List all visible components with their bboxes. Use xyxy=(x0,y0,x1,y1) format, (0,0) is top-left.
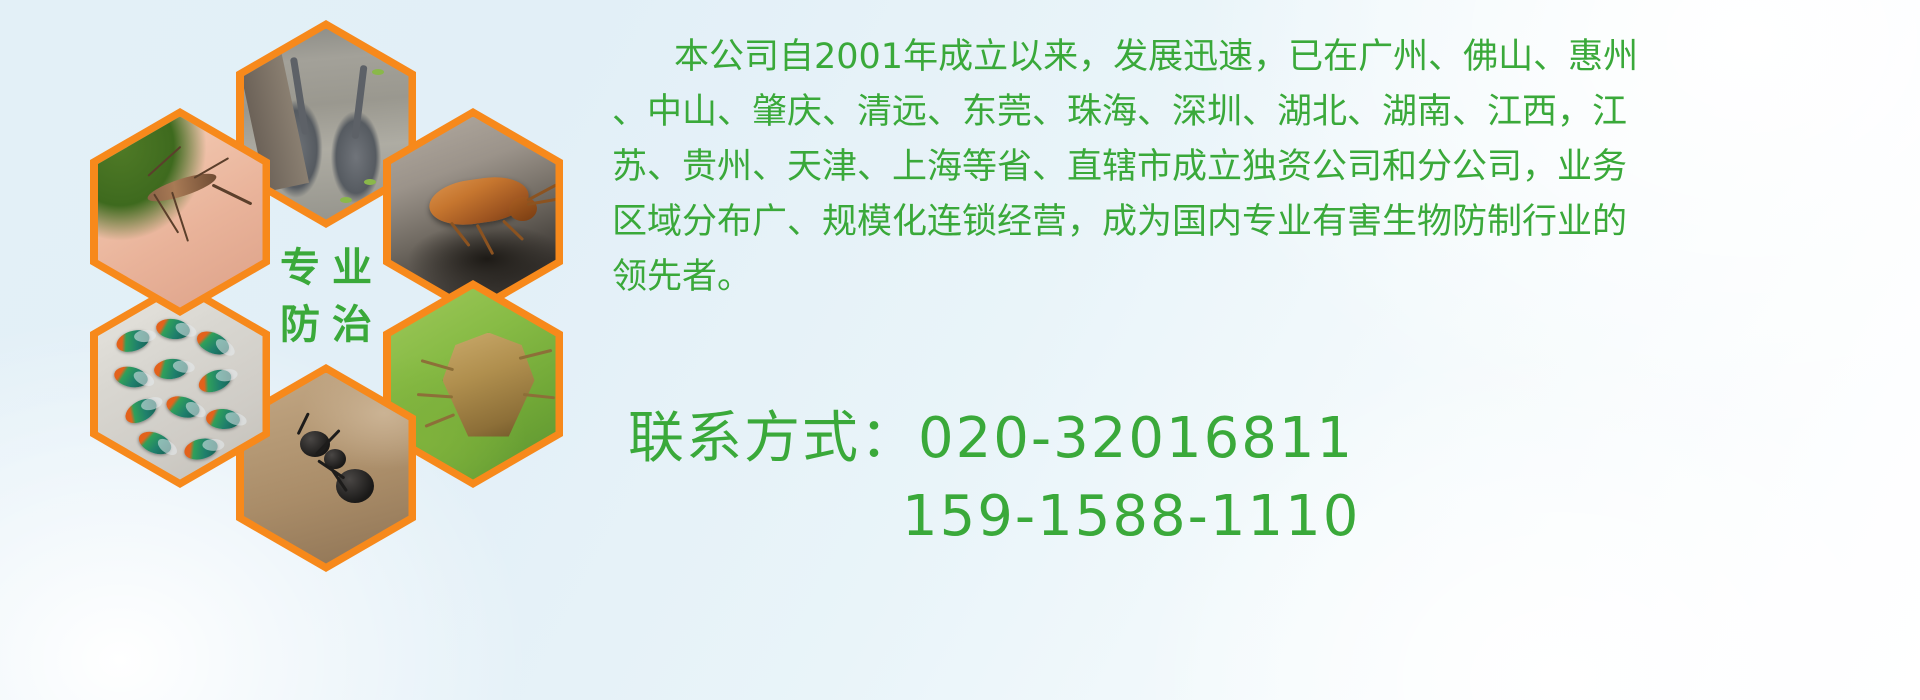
honeycomb-label-line2: 防治 xyxy=(268,297,384,354)
about-line-3: 苏、贵州、天津、上海等省、直辖市成立独资公司和分公司，业务 xyxy=(612,140,1897,195)
honeycomb-gallery: 专业 防治 xyxy=(88,8,588,568)
about-line-2: 、中山、肇庆、清远、东莞、珠海、深圳、湖北、湖南、江西，江 xyxy=(612,85,1897,140)
contact-block: 联系方式：020-32016811 159-1588-1110 xyxy=(612,400,1897,556)
about-line-5: 领先者。 xyxy=(612,250,1897,305)
about-company-paragraph: 本公司自2001年成立以来，发展迅速，已在广州、佛山、惠州 、中山、肇庆、清远、… xyxy=(612,30,1897,305)
contact-primary-phone[interactable]: 联系方式：020-32016811 xyxy=(612,400,1897,478)
about-line-4: 区域分布广、规模化连锁经营，成为国内专业有害生物防制行业的 xyxy=(612,195,1897,250)
about-line-1: 本公司自2001年成立以来，发展迅速，已在广州、佛山、惠州 xyxy=(612,30,1897,85)
honeycomb-label-line1: 专业 xyxy=(268,240,384,297)
contact-secondary-phone[interactable]: 159-1588-1110 xyxy=(612,478,1897,556)
banner-canvas: 专业 防治 本公司自2001年成立以来，发展迅速，已在广州、佛山、惠州 、中山、… xyxy=(0,0,1920,700)
